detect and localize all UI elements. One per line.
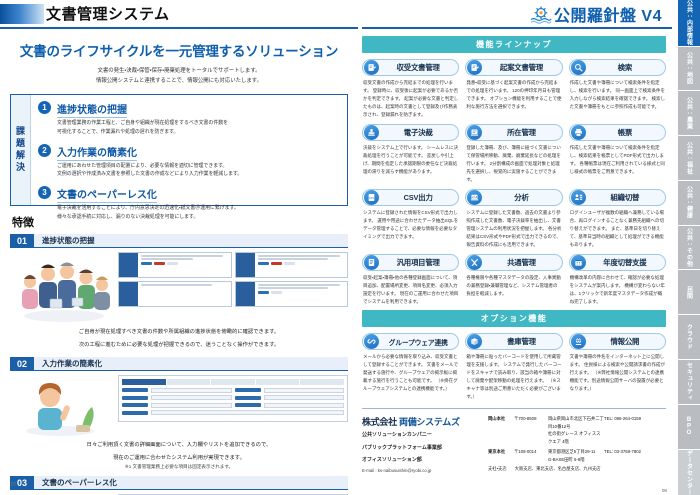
link-groupware-icon — [364, 334, 379, 349]
tab-bpo[interactable]: BPO — [678, 405, 700, 449]
feature-card[interactable]: 帳票 作成した文書や簿冊について検索条件を指定し、検索結果を帳票としてPDF形式… — [569, 124, 666, 184]
tab-datacenter[interactable]: データセンター — [678, 450, 700, 495]
document-draft-icon — [467, 60, 482, 75]
branch-label: 支社・支店 — [488, 466, 507, 472]
right-page: 公開羅針盤 V4 機能ラインナップ 収受文書管理 収受文書の作成から完結までの処… — [358, 0, 672, 495]
feature-card-desc: ログインユーザが複数の組織へ兼務している場合、再ログインすることなく兼務先組織へ… — [569, 209, 666, 249]
count-chip — [258, 291, 269, 294]
feature-body-01 — [10, 252, 348, 324]
tab-label: クラウド — [685, 324, 694, 350]
feature-card-header[interactable]: 汎用項目管理 — [362, 254, 459, 271]
company-identity: 株式会社 両備システムズ 公共ソリューションカンパニー パブリックプラットフォー… — [362, 415, 484, 473]
feature-header-03: 03 文書のペーパーレス化 — [10, 476, 348, 490]
office-row: 東京本社 〒108-0014 東京都港区芝5丁目29-11 G-BASE田町 6… — [488, 448, 666, 463]
form-field-input[interactable] — [264, 403, 345, 408]
stamp-approval-icon — [364, 125, 379, 140]
card-label-strip — [119, 253, 138, 277]
illustration-team-meeting — [10, 252, 118, 324]
tab-label: 民間 — [685, 286, 694, 299]
feature-caption-02-line1: 日々ご利用頂く文書の詳細画面について、入力欄やリストを追加できるので、 — [0, 440, 358, 450]
svg-text:CSV: CSV — [369, 196, 375, 200]
solution-text: 入力作業の簡素化 ご運用にあわせた管理項目の配置により、必要な情報を適切に管理で… — [57, 143, 242, 181]
feature-card[interactable]: 汎用項目管理 収受・起案・簿冊・他の各種登録画面について、項目追加、配置場所変更… — [362, 254, 459, 306]
illustration-operator — [10, 375, 118, 437]
option-card[interactable]: 書庫管理 箱や簿冊に貼ったバーコードを使用して所蔵管理を支援します。 システムで… — [465, 333, 562, 401]
branch-row: 支社・支店 大阪支店、東北支店、名古屋支店、九州支店 — [488, 466, 666, 472]
card-count-chips — [141, 262, 228, 265]
tab-label: 公共：健康 — [685, 186, 694, 219]
tab-public-map[interactable]: 公共：地図 — [678, 47, 700, 91]
tab-label: 公共：農業 — [685, 97, 694, 130]
feature-caption-01-line2: 次の工程に進むために必要な処理が把握できるので、迷うことなく操作ができます。 — [0, 340, 358, 350]
form-step — [122, 379, 166, 385]
company-name-main: 両備システムズ — [399, 417, 460, 427]
page-number-right: 08 — [662, 488, 667, 493]
feature-card-desc: 決裁をシステム上で行います。 シームレスに決裁処理を行うことが可能です。 差戻し… — [362, 144, 459, 176]
option-card-name: 書庫管理 — [485, 336, 557, 347]
solution-desc-2: 文例の選択や作成済み文書を参照した文書の作成などにより入力作業を軽減します。 — [57, 171, 242, 180]
form-field-input[interactable] — [151, 388, 232, 393]
document-receive-icon — [364, 60, 379, 75]
card-text-line — [258, 258, 329, 260]
card-content — [255, 253, 348, 277]
feature-card-desc: システムに登録した文書数、過去の文書より参照作成した文書数、電子決裁率を抽出し、… — [465, 209, 562, 249]
form-mock — [118, 375, 348, 422]
feature-card[interactable]: 電子決裁 決裁をシステム上で行います。 シームレスに決裁処理を行うことが可能です… — [362, 124, 459, 184]
solution-desc-1: ご運用にあわせた管理項目の配置により、必要な情報を適切に管理できます。 — [57, 163, 242, 172]
card-label-strip — [236, 253, 255, 277]
solution-text: 進捗状態の把握 文書管理業務の作業工程と、ご自身や組織が現在処理をするべき文書の… — [57, 100, 228, 138]
feature-name: 文書のペーパーレス化 — [34, 476, 348, 490]
feature-card-name: 所在管理 — [485, 127, 557, 138]
feature-card-header[interactable]: 分析 — [465, 189, 562, 206]
box-archive-icon — [467, 334, 482, 349]
problem-solution-items: 1 進捗状態の把握 文書管理業務の作業工程と、ご自身や組織が現在処理をするべき文… — [31, 95, 347, 205]
tab-private[interactable]: 民間 — [678, 270, 700, 314]
tab-public-other[interactable]: 公共：その他 — [678, 226, 700, 270]
solution-item: 3 文書のペーパーレス化 電子決裁を活用することにより、庁内意思決定の迅速化・紙… — [38, 185, 340, 223]
feature-body-02 — [10, 375, 348, 437]
company-footer: 株式会社 両備システムズ 公共ソリューションカンパニー パブリックプラットフォー… — [362, 408, 666, 473]
feature-card-desc: 作成した文書や簿冊について検索条件を指定し、検索結果を帳票としてPDF形式で出力… — [569, 144, 666, 176]
feature-card-name: 汎用項目管理 — [382, 257, 454, 268]
feature-name: 進捗状態の把握 — [34, 234, 348, 248]
feature-lineup-grid: 収受文書管理 収受文書の作成から完結までの処理を行います。 登録時に、収受後に起… — [362, 59, 666, 306]
feature-card[interactable]: 共通管理 各種権限や各種マスタデータの設定、人事異動の兼務登録・兼職管理など、シ… — [465, 254, 562, 306]
tab-public-agriculture[interactable]: 公共：農業 — [678, 91, 700, 135]
left-page: 文書管理システム 文書のライフサイクルを一元管理するソリューション 文書の発生・… — [0, 0, 358, 495]
category-title: 文書管理システム — [46, 3, 170, 24]
office-address: 岡山県岡山市北区下石井二丁目10番12号 杜の街グレース オフィススクエア 4階 — [548, 415, 604, 445]
feature-card[interactable]: 起案文書管理 発意・収受に基づく起案文書の作成から完結までの処理を行います。 1… — [465, 59, 562, 119]
feature-card-header[interactable]: 帳票 — [569, 124, 666, 141]
lineup-band: 機能ラインナップ — [362, 36, 666, 53]
feature-card-header[interactable]: 所在管理 — [465, 124, 562, 141]
feature-card-name: 分析 — [485, 192, 557, 203]
lead-subtext: 文書の発生・決裁・保管・保存・廃棄処理をトータルでサポートします。 情報公開シス… — [29, 66, 329, 86]
solution-number: 2 — [38, 144, 51, 157]
feature-card-desc: 各種権限や各種マスタデータの設定、人事異動の兼務登録・兼職管理など、システム管理… — [465, 274, 562, 298]
form-field-input[interactable] — [151, 395, 232, 400]
solution-desc-1: 電子決裁を活用することにより、庁内意思決定の迅速化・紙文書＠運用に繋げます。 — [57, 205, 239, 214]
form-field-input[interactable] — [151, 410, 344, 415]
problem-solution-label-text: 課題解決 — [14, 126, 27, 174]
feature-card-name: 共通管理 — [485, 257, 557, 268]
office-address-line1: 東京都港区芝5丁目29-11 — [548, 448, 604, 456]
form-field-input[interactable] — [151, 403, 232, 408]
product-name: 公開羅針盤 V4 — [554, 2, 662, 26]
option-card-header[interactable]: 書庫管理 — [465, 333, 562, 350]
brochure-page: 文書管理システム 文書のライフサイクルを一元管理するソリューション 文書の発生・… — [0, 0, 700, 495]
problem-solution-label: 課題解決 — [11, 95, 31, 205]
feature-number: 02 — [10, 357, 34, 371]
section-tab-strip: 公共：内部情報 公共：地図 公共：農業 公共：福祉 公共：健康 公共：その他 民… — [678, 0, 700, 495]
globe-disclosure-icon — [571, 334, 586, 349]
solution-item: 2 入力作業の簡素化 ご運用にあわせた管理項目の配置により、必要な情報を適切に管… — [38, 143, 340, 181]
problem-solution-box: 課題解決 1 進捗状態の把握 文書管理業務の作業工程と、ご自身や組織が現在処理を… — [10, 94, 348, 206]
office-tel: TEL: 03-3769-7802 — [604, 448, 666, 463]
office-zip: 〒700-8508 — [514, 415, 548, 445]
card-count-chips — [258, 262, 345, 265]
form-row — [122, 395, 344, 400]
product-logo: 公開羅針盤 V4 — [530, 2, 662, 26]
feature-card-name: 年度切替支援 — [589, 257, 661, 268]
form-row — [122, 403, 344, 408]
office-address-line1: 岡山県岡山市北区下石井二丁目10番12号 — [548, 415, 604, 430]
printer-report-icon — [571, 125, 586, 140]
feature-card-desc: 機構改革の内容に合わせて、確認が必要な処理をシステムが案内します。 機構が変わら… — [569, 274, 666, 306]
office-address-line2: G-BASE田町 6-8階 — [548, 456, 604, 464]
company-dept-1: 公共ソリューションカンパニー — [362, 431, 484, 441]
illustration-operator-svg — [10, 375, 118, 437]
solution-desc-2: 可視化することで、作業漏れや処理の遅れを防ぎます。 — [57, 129, 228, 138]
count-chip — [167, 262, 178, 265]
option-card[interactable]: 情報公開 文書や簿冊の件名をインターネット上に公開します。 住民様による検索や公… — [569, 333, 666, 401]
csv-export-icon: CSV — [364, 190, 379, 205]
company-dept-3: オフィスソリューション部 — [362, 456, 484, 466]
office-label: 東京本社 — [488, 448, 514, 463]
left-header: 文書管理システム — [0, 0, 358, 30]
tab-label: BPO — [686, 417, 692, 437]
feature-card-name: 検索 — [589, 62, 661, 73]
solution-desc-2: 様々な承認手続に対応し、漏りのない決裁処理を可能にします。 — [57, 214, 239, 223]
feature-card-desc: 登録した簿冊、及び、簿冊に紐づく文書について保管場所移動、廃棄、廃棄延長などの処… — [465, 144, 562, 184]
form-row — [122, 388, 344, 393]
count-chip — [271, 291, 282, 294]
card-count-chips — [258, 291, 345, 294]
card-label-strip — [119, 282, 138, 306]
lead-subtext-line2: 情報公開システムと連携することで、情報公開にも対応いたします。 — [29, 76, 329, 86]
option-card-desc: 文書や簿冊の件名をインターネット上に公開します。 住民様による検索や公開請求書の… — [569, 353, 666, 393]
tab-label: 公共：福祉 — [685, 142, 694, 175]
analytics-laptop-icon — [467, 190, 482, 205]
generic-item-icon — [364, 255, 379, 270]
feature-card-desc: 発意・収受に基づく起案文書の作成から完結までの処理を行います。 120の押印年月… — [465, 79, 562, 111]
card-text-line — [258, 284, 340, 286]
solution-desc-1: 文書管理業務の作業工程と、ご自身や組織が現在処理をするべき文書の件数を — [57, 120, 228, 129]
option-feature-grid: グループウェア連携 メールから必要な情報を取り込み、収受文書として登録することが… — [362, 333, 666, 401]
feature-card-header[interactable]: 起案文書管理 — [465, 59, 562, 76]
right-header: 公開羅針盤 V4 — [362, 0, 666, 30]
feature-note-02: ※1 文書管理業務上必要な項目は固定表示されます。 — [0, 464, 358, 470]
feature-card-name: 電子決裁 — [382, 127, 454, 138]
count-chip — [141, 262, 152, 265]
form-field-input[interactable] — [264, 388, 345, 393]
tab-security[interactable]: セキュリティ — [678, 360, 700, 404]
option-card-name: グループウェア連携 — [382, 337, 454, 347]
solution-title: 進捗状態の把握 — [57, 105, 127, 118]
feature-card-name: 起案文書管理 — [485, 62, 557, 73]
count-chip — [154, 262, 165, 265]
feature-card[interactable]: 年度切替支援 機構改革の内容に合わせて、確認が必要な処理をシステムが案内します。… — [569, 254, 666, 306]
feature-card-desc: 作成した文書や簿冊について検索条件を指定し、検索を行います。 同一画面上で検索条… — [569, 79, 666, 111]
dashboard-card — [118, 281, 232, 307]
form-field-label — [235, 396, 261, 400]
card-content — [138, 282, 231, 306]
dashboard-card — [235, 252, 349, 278]
header-accent-bar — [0, 4, 44, 24]
wrench-settings-icon — [467, 255, 482, 270]
feature-card[interactable]: 検索 作成した文書や簿冊について検索条件を指定し、検索を行います。 同一画面上で… — [569, 59, 666, 119]
tab-label: データセンター — [685, 450, 694, 495]
feature-card[interactable]: CSV CSV出力 システムに登録された情報をCSV形式で出力します。 運用や用… — [362, 189, 459, 249]
solution-number: 3 — [38, 186, 51, 199]
feature-card-header[interactable]: 共通管理 — [465, 254, 562, 271]
card-content — [138, 253, 231, 277]
feature-number: 01 — [10, 234, 34, 248]
lead-headline: 文書のライフサイクルを一元管理するソリューション — [0, 40, 358, 60]
screenshot-input-form — [118, 375, 348, 437]
feature-card-name: 組織切替 — [589, 192, 661, 203]
tab-label: 公共：その他 — [685, 228, 694, 267]
dashboard-card — [118, 252, 232, 278]
company-email[interactable]: E-mail : ks-naibusuishin@ryobi.co.jp — [362, 468, 484, 473]
dashboard-card — [235, 281, 349, 307]
form-step-bar — [122, 379, 344, 385]
feature-card-desc: 収受・起案・簿冊・他の各種登録画面について、項目追加、配置場所変更、項目名変更、… — [362, 274, 459, 306]
feature-card-header[interactable]: 収受文書管理 — [362, 59, 459, 76]
form-field-label — [235, 388, 261, 392]
solution-text: 文書のペーパーレス化 電子決裁を活用することにより、庁内意思決定の迅速化・紙文書… — [57, 185, 239, 223]
card-text-line — [141, 258, 193, 260]
right-header-rule — [362, 27, 672, 29]
feature-card[interactable]: 組織切替 ログインユーザが複数の組織へ兼務している場合、再ログインすることなく兼… — [569, 189, 666, 249]
form-row — [122, 410, 344, 415]
branch-list: 大阪支店、東北支店、名古屋支店、九州支店 — [515, 466, 601, 472]
feature-card-header[interactable]: 組織切替 — [569, 189, 666, 206]
office-address-line2: 杜の街グレース オフィススクエア 4階 — [548, 430, 604, 445]
office-zip: 〒108-0014 — [514, 448, 548, 463]
form-field-label — [122, 396, 148, 400]
company-name: 株式会社 両備システムズ — [362, 415, 484, 428]
ship-wheel-compass-icon — [530, 5, 550, 23]
tab-label: セキュリティ — [685, 362, 694, 401]
option-card-header[interactable]: グループウェア連携 — [362, 333, 459, 350]
page-number-left: 07 — [11, 482, 17, 488]
card-text-line — [141, 284, 212, 286]
solution-title: 文書のペーパーレス化 — [57, 190, 157, 203]
company-offices: 岡山本社 〒700-8508 岡山県岡山市北区下石井二丁目10番12号 杜の街グ… — [484, 415, 666, 473]
feature-card-name: 収受文書管理 — [382, 62, 454, 73]
ship-wheel-compass-icon-svg — [530, 5, 552, 25]
feature-card-desc: システムに登録された情報をCSV形式で出力します。 運用や用途に合わせたデータ抽… — [362, 209, 459, 241]
option-card-desc: メールから必要な情報を取り込み、収受文書として登録することができます。 文書をメ… — [362, 353, 459, 393]
office-label: 岡山本社 — [488, 415, 514, 445]
feature-name: 入力作業の簡素化 — [34, 357, 348, 371]
count-chip — [271, 262, 282, 265]
tab-cloud[interactable]: クラウド — [678, 315, 700, 359]
header-rule — [0, 27, 358, 29]
card-label-strip — [236, 282, 255, 306]
office-tel: TEL: 086-264-0159 — [604, 415, 666, 445]
lead-subtext-line1: 文書の発生・決裁・保管・保存・廃棄処理をトータルでサポートします。 — [29, 66, 329, 76]
feature-caption-01-line1: ご自身が現在処理すべき文書の件数や所属組織の進捗状態を俯瞰的に確認できます。 — [0, 327, 358, 337]
card-text-line — [258, 287, 329, 289]
feature-card-header[interactable]: 検索 — [569, 59, 666, 76]
calendar-year-icon — [571, 255, 586, 270]
feature-card-header[interactable]: 年度切替支援 — [569, 254, 666, 271]
company-brand-prefix: 株式会社 — [362, 417, 397, 427]
feature-card[interactable]: 収受文書管理 収受文書の作成から完結までの処理を行います。 登録時に、収受後に起… — [362, 59, 459, 119]
screenshot-progress-dashboard — [118, 252, 348, 324]
feature-card-desc: 収受文書の作成から完結までの処理を行います。 登録時に、収受後に起案が必要である… — [362, 79, 459, 119]
office-row: 岡山本社 〒700-8508 岡山県岡山市北区下石井二丁目10番12号 杜の街グ… — [488, 415, 666, 445]
card-text-line — [141, 255, 223, 257]
office-address: 東京都港区芝5丁目29-11 G-BASE田町 6-8階 — [548, 448, 604, 463]
illustration-team-meeting-svg — [10, 252, 118, 324]
feature-card-name: CSV出力 — [382, 192, 454, 203]
dashboard-card-grid — [118, 252, 348, 307]
feature-card[interactable]: 分析 システムに登録した文書数、過去の文書より参照作成した文書数、電子決裁率を抽… — [465, 189, 562, 249]
solution-title: 入力作業の簡素化 — [57, 148, 137, 161]
form-step — [167, 379, 211, 385]
form-field-label — [122, 411, 148, 415]
count-chip — [258, 262, 269, 265]
option-card[interactable]: グループウェア連携 メールから必要な情報を取り込み、収受文書として登録することが… — [362, 333, 459, 401]
tab-public-health[interactable]: 公共：健康 — [678, 181, 700, 225]
form-step — [300, 379, 344, 385]
location-storage-icon — [467, 125, 482, 140]
feature-header-01: 01 進捗状態の把握 — [10, 234, 348, 248]
feature-card[interactable]: 所在管理 登録した簿冊、及び、簿冊に紐づく文書について保管場所移動、廃棄、廃棄延… — [465, 124, 562, 184]
tab-public-welfare[interactable]: 公共：福祉 — [678, 136, 700, 180]
form-field-input[interactable] — [264, 395, 345, 400]
company-dept-2: パブリックプラットフォーム事業部 — [362, 444, 484, 454]
option-card-header[interactable]: 情報公開 — [569, 333, 666, 350]
feature-caption-02-line2: 現在のご運用に合わせたシステム利用が実現できます。 — [0, 453, 358, 463]
form-step — [211, 379, 255, 385]
option-band: オプション機能 — [362, 310, 666, 327]
form-field-label — [122, 388, 148, 392]
org-switch-icon — [571, 190, 586, 205]
search-icon — [571, 60, 586, 75]
feature-card-header[interactable]: CSV CSV出力 — [362, 189, 459, 206]
form-field-label — [122, 403, 148, 407]
tab-label: 公共：内部情報 — [685, 0, 694, 46]
form-step — [256, 379, 300, 385]
feature-card-header[interactable]: 電子決裁 — [362, 124, 459, 141]
feature-header-02: 02 入力作業の簡素化 — [10, 357, 348, 371]
option-card-name: 情報公開 — [589, 336, 661, 347]
tab-label: 公共：地図 — [685, 52, 694, 85]
solution-number: 1 — [38, 101, 51, 114]
card-text-line — [258, 255, 340, 257]
option-card-desc: 箱や簿冊に貼ったバーコードを使用して所蔵管理を支援します。 システムで発行したバ… — [465, 353, 562, 401]
form-field-label — [235, 403, 261, 407]
card-content — [255, 282, 348, 306]
feature-card-name: 帳票 — [589, 127, 661, 138]
solution-item: 1 進捗状態の把握 文書管理業務の作業工程と、ご自身や組織が現在処理をするべき文… — [38, 100, 340, 138]
count-chip — [284, 262, 295, 265]
tab-public-internal-info[interactable]: 公共：内部情報 — [678, 0, 700, 46]
